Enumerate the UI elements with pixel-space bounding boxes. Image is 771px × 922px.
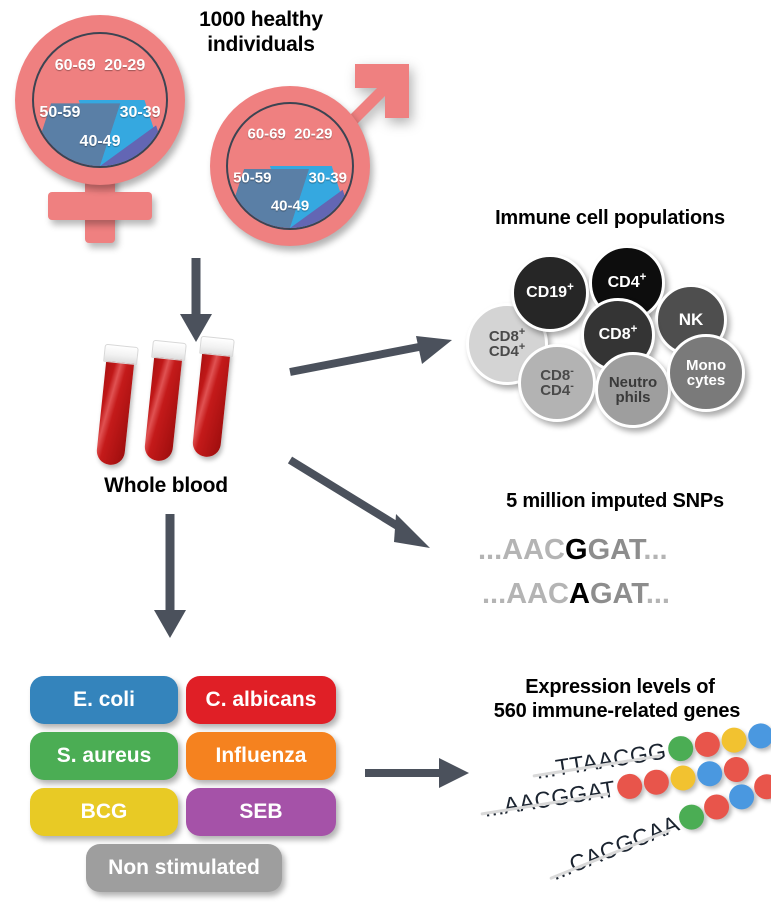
- expression-strands: ...TTAACGG ...AACGGAT ...CACGCAA: [440, 730, 771, 922]
- snp-sequences: ...AACGGAT... ...AACAGAT...: [478, 528, 758, 624]
- snp-variant: A: [569, 578, 590, 610]
- expression-title-line2: 560 immune-related genes: [462, 700, 771, 724]
- snp-suffix: GAT: [588, 534, 644, 566]
- immune-cell-label: CD4+: [608, 275, 647, 291]
- immune-cell-label: CD8+CD4+: [489, 329, 525, 360]
- expression-bead: [746, 722, 771, 751]
- immune-cell-label: CD19+: [526, 285, 574, 301]
- figure-canvas: 1000 healthy individuals 20-2930-3940-49…: [0, 0, 771, 922]
- arrow-cohort-to-blood: [176, 258, 216, 348]
- age-slice-label-60-69: 60-69: [55, 57, 96, 75]
- snp-prefix: ...AAC: [478, 534, 565, 566]
- female-symbol-crossbar: [48, 192, 152, 220]
- age-slice-label-20-29: 20-29: [294, 125, 332, 142]
- age-slice-label-40-49: 40-49: [271, 197, 309, 214]
- immune-cell-label: NK: [679, 311, 704, 328]
- blood-tube-cap: [151, 340, 187, 361]
- immune-cell-cd19p: CD19+: [511, 254, 589, 332]
- expression-bead: [719, 726, 748, 755]
- immune-cell-monocytes: Monocytes: [667, 334, 745, 412]
- snp-tail: ...: [646, 578, 670, 610]
- snp-tail: ...: [643, 534, 667, 566]
- age-slice-label-20-29: 20-29: [104, 57, 145, 75]
- expression-bead: [695, 759, 724, 788]
- whole-blood-label: Whole blood: [76, 474, 256, 499]
- immune-cell-cluster: CD8+CD4+ CD19+ CD4+ NK CD8+ CD8-CD4- Neu…: [455, 240, 771, 420]
- male-gender-symbol: 20-2930-3940-4950-5960-69: [205, 58, 420, 263]
- immune-cell-label: CD8+: [599, 327, 638, 343]
- immune-cell-label: Neutrophils: [609, 375, 657, 406]
- age-slice-label-50-59: 50-59: [39, 104, 80, 122]
- expression-title-line1: Expression levels of: [470, 676, 770, 700]
- age-slice-label-40-49: 40-49: [80, 133, 121, 151]
- strand-sequence: ...CACGCAA: [547, 810, 683, 886]
- arrow-blood-to-immune-cells: [288, 330, 458, 390]
- stimulus-c-albicans[interactable]: C. albicans: [186, 676, 336, 724]
- stimulus-e-coli[interactable]: E. coli: [30, 676, 178, 724]
- male-age-pie-labels: 20-2930-3940-4950-5960-69: [226, 102, 354, 230]
- snps-title: 5 million imputed SNPs: [470, 490, 760, 514]
- snp-variant: G: [565, 534, 588, 566]
- age-slice-label-30-39: 30-39: [309, 170, 347, 187]
- stimulus-seb[interactable]: SEB: [186, 788, 336, 836]
- stimulus-influenza[interactable]: Influenza: [186, 732, 336, 780]
- expression-bead: [666, 734, 695, 763]
- expression-bead: [615, 772, 644, 801]
- blood-tube-cap: [103, 344, 139, 365]
- stimulus-s-aureus[interactable]: S. aureus: [30, 732, 178, 780]
- blood-tube-body: [143, 352, 182, 462]
- expression-bead: [693, 730, 722, 759]
- immune-cell-label: Monocytes: [686, 358, 726, 389]
- immune-cell-neutrophils: Neutrophils: [595, 352, 671, 428]
- snp-row: ...AACGGAT...: [478, 534, 668, 567]
- arrow-blood-to-snps: [288, 448, 458, 568]
- blood-tube-cap: [199, 336, 235, 357]
- snp-row: ...AACAGAT...: [482, 578, 670, 611]
- immune-cell-label: CD8-CD4-: [540, 368, 574, 399]
- female-age-pie-labels: 20-2930-3940-4950-5960-69: [32, 32, 168, 168]
- blood-tube-body: [191, 348, 230, 458]
- female-gender-symbol: 20-2930-3940-4950-5960-69: [10, 10, 190, 240]
- stimulus-non-stimulated[interactable]: Non stimulated: [86, 844, 282, 892]
- stimuli-panel: E. coli C. albicans S. aureus Influenza …: [30, 676, 350, 896]
- immune-cell-cd8n-cd4n: CD8-CD4-: [518, 344, 596, 422]
- expression-bead: [669, 764, 698, 793]
- age-slice-label-30-39: 30-39: [120, 104, 161, 122]
- age-slice-label-60-69: 60-69: [247, 125, 285, 142]
- arrow-blood-to-stimuli: [150, 514, 190, 644]
- age-slice-label-50-59: 50-59: [233, 170, 271, 187]
- stimulus-bcg[interactable]: BCG: [30, 788, 178, 836]
- blood-tube-body: [95, 356, 134, 466]
- snp-suffix: GAT: [590, 578, 646, 610]
- immune-cell-populations-title: Immune cell populations: [455, 207, 765, 231]
- snp-prefix: ...AAC: [482, 578, 569, 610]
- expression-bead: [642, 768, 671, 797]
